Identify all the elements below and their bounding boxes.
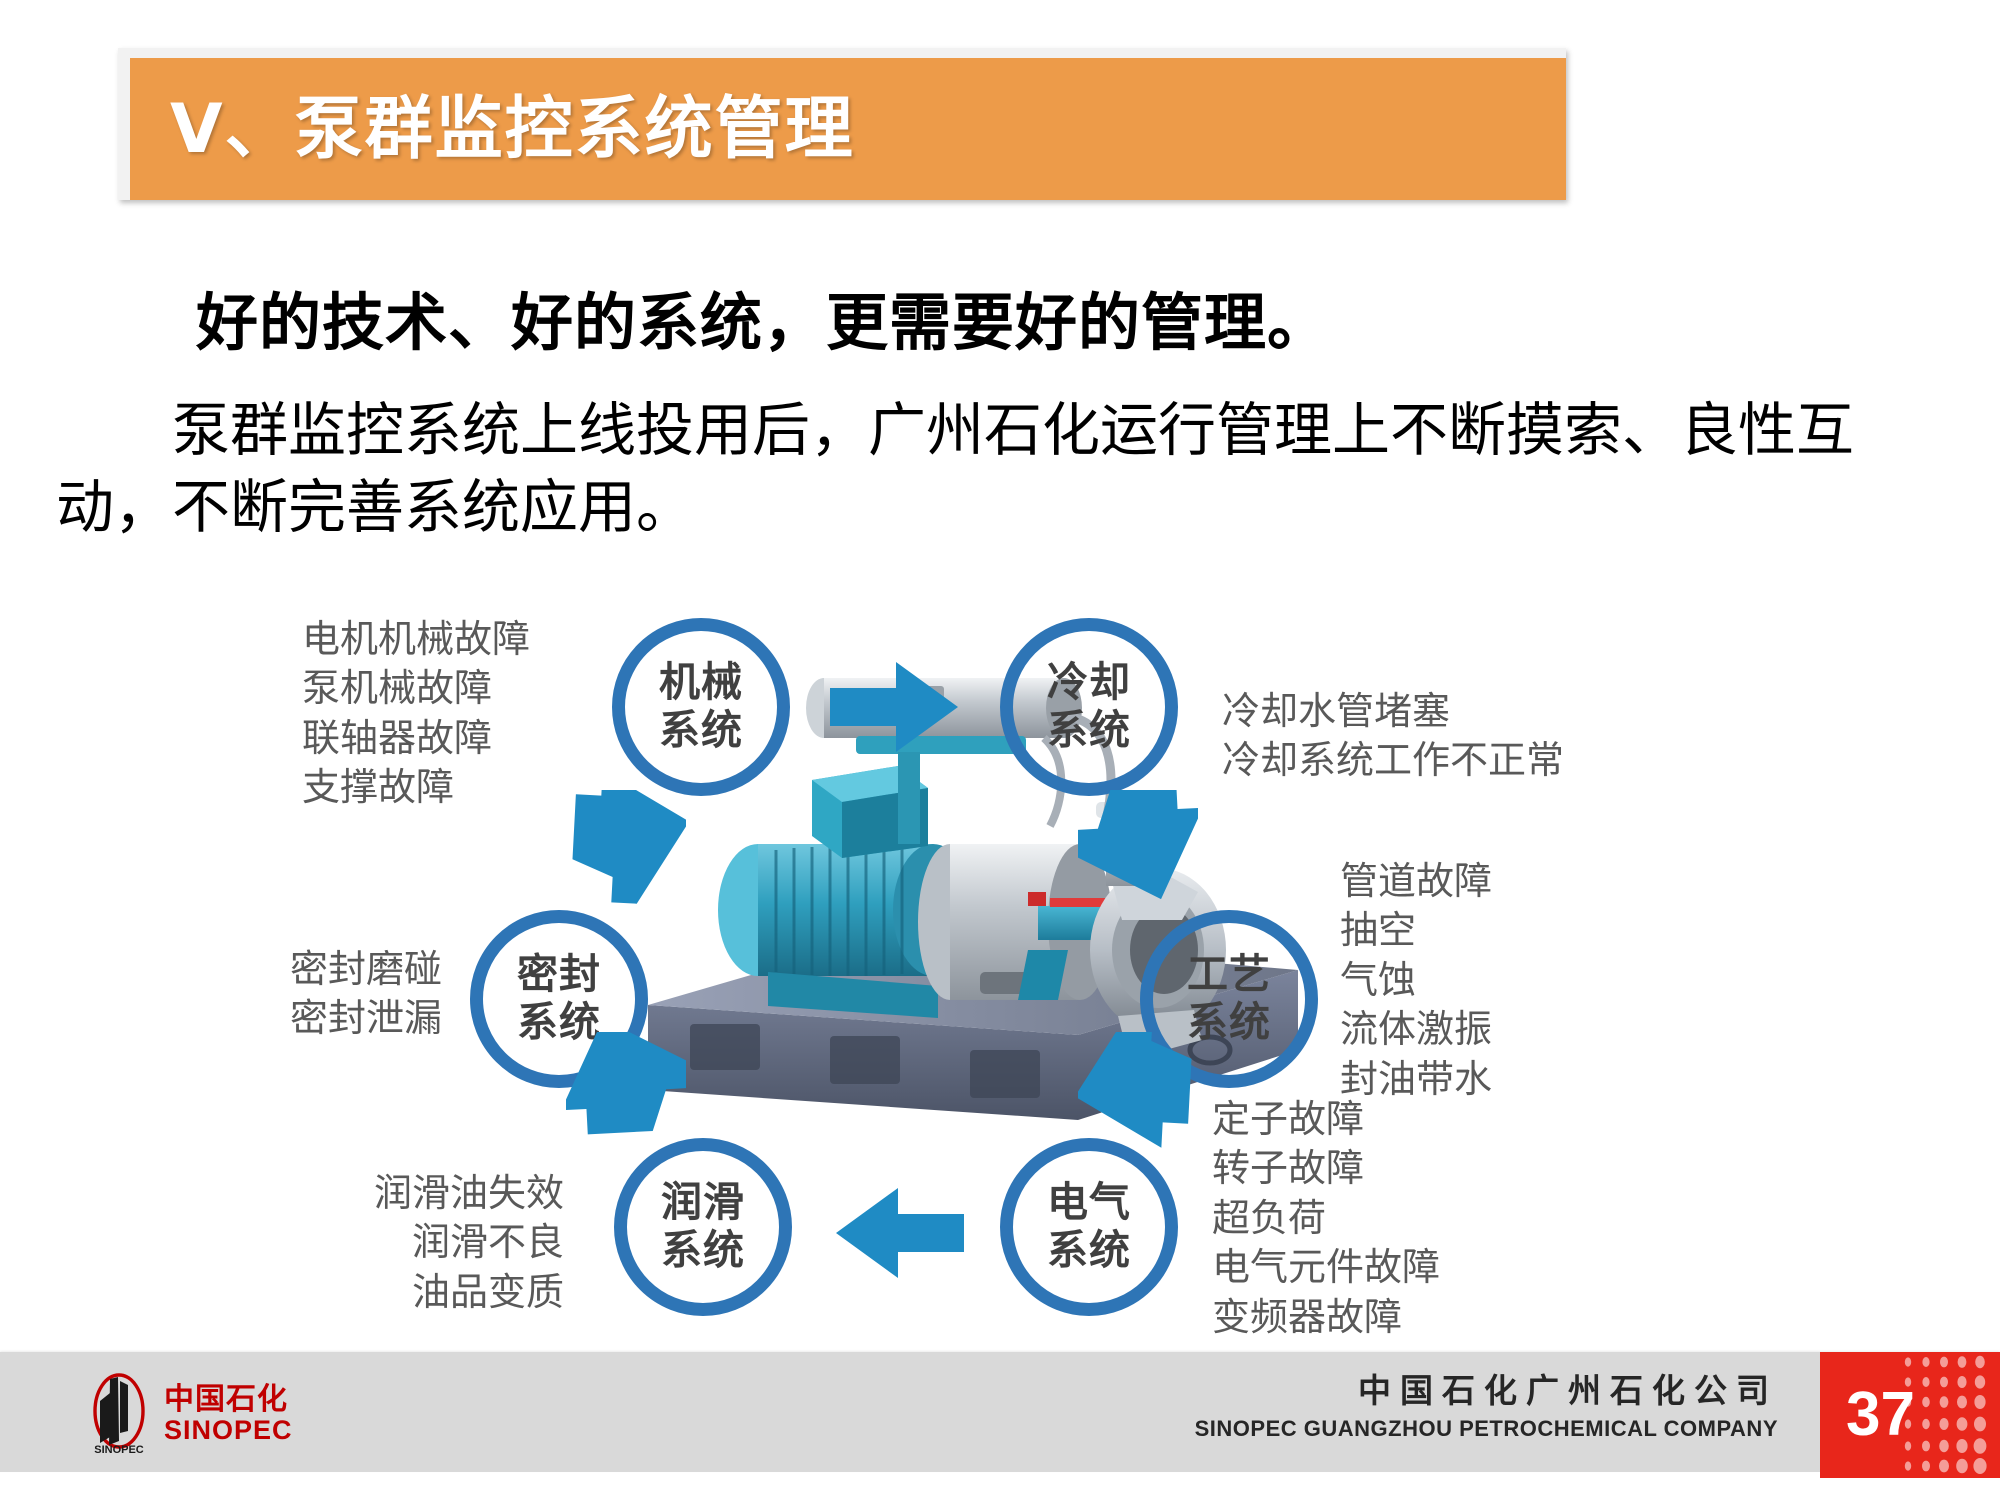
node-label-line2: 系统 xyxy=(1187,1000,1271,1046)
node-label-line2: 系统 xyxy=(1047,708,1131,754)
fault-list-mechanical: 电机机械故障 泵机械故障 联轴器故障 支撑故障 xyxy=(302,616,530,814)
brand-name-cn: 中国石化 xyxy=(164,1383,293,1416)
pump-fault-system-diagram: 机械 系统 冷却 系统 工艺 系统 电气 系统 润滑 系统 密封 系统 xyxy=(0,600,2000,1360)
arrow-lubrication-to-sealing xyxy=(566,1032,686,1152)
svg-text:SINOPEC: SINOPEC xyxy=(94,1444,144,1456)
node-label-line1: 润滑 xyxy=(661,1180,745,1226)
node-label-line1: 电气 xyxy=(1047,1180,1131,1226)
lead-statement: 好的技术、好的系统，更需要好的管理。 xyxy=(196,272,1330,362)
brand-name-en: SINOPEC xyxy=(164,1416,293,1446)
title-banner: Ⅴ、泵群监控系统管理 xyxy=(130,58,1566,200)
fault-list-cooling: 冷却水管堵塞 冷却系统工作不正常 xyxy=(1222,688,1564,787)
node-label-line2: 系统 xyxy=(1047,1228,1131,1274)
arrow-sealing-to-mechanical xyxy=(566,790,686,910)
title-banner-container: Ⅴ、泵群监控系统管理 xyxy=(118,48,1566,200)
node-cooling-system[interactable]: 冷却 系统 xyxy=(1000,618,1178,796)
company-name-cn: 中国石化广州石化公司 xyxy=(1195,1370,1778,1411)
node-mechanical-system[interactable]: 机械 系统 xyxy=(612,618,790,796)
page-title: Ⅴ、泵群监控系统管理 xyxy=(170,95,855,163)
fault-list-process: 管道故障 抽空 气蚀 流体激振 封油带水 xyxy=(1340,858,1492,1105)
sinopec-emblem-icon: SINOPEC xyxy=(88,1371,150,1457)
arrow-cooling-to-process xyxy=(1078,790,1198,910)
arrow-mechanical-to-cooling xyxy=(830,662,960,752)
node-electrical-system[interactable]: 电气 系统 xyxy=(1000,1138,1178,1316)
node-label-line1: 冷却 xyxy=(1047,660,1131,706)
fault-list-sealing: 密封磨碰 密封泄漏 xyxy=(252,946,442,1045)
arrow-process-to-electrical xyxy=(1078,1032,1198,1152)
fault-list-electrical: 定子故障 转子故障 超负荷 电气元件故障 变频器故障 xyxy=(1212,1096,1440,1343)
sinopec-logo: SINOPEC 中国石化 SINOPEC xyxy=(88,1368,418,1460)
node-label-line1: 密封 xyxy=(517,952,601,998)
node-label-line2: 系统 xyxy=(659,708,743,754)
arrow-electrical-to-lubrication xyxy=(824,1188,964,1278)
body-paragraph: 泵群监控系统上线投用后，广州石化运行管理上不断摸索、良性互动，不断完善系统应用。 xyxy=(56,392,1926,546)
page-number: 37 xyxy=(1846,1384,1915,1446)
company-name-block: 中国石化广州石化公司 SINOPEC GUANGZHOU PETROCHEMIC… xyxy=(1195,1370,1778,1443)
node-label-line1: 机械 xyxy=(659,660,743,706)
node-label-line1: 工艺 xyxy=(1187,952,1271,998)
company-name-en: SINOPEC GUANGZHOU PETROCHEMICAL COMPANY xyxy=(1195,1415,1778,1443)
node-lubrication-system[interactable]: 润滑 系统 xyxy=(614,1138,792,1316)
node-label-line2: 系统 xyxy=(661,1228,745,1274)
page-number-badge: 37 xyxy=(1820,1352,2000,1478)
fault-list-lubrication: 润滑油失效 润滑不良 油品变质 xyxy=(356,1170,564,1318)
